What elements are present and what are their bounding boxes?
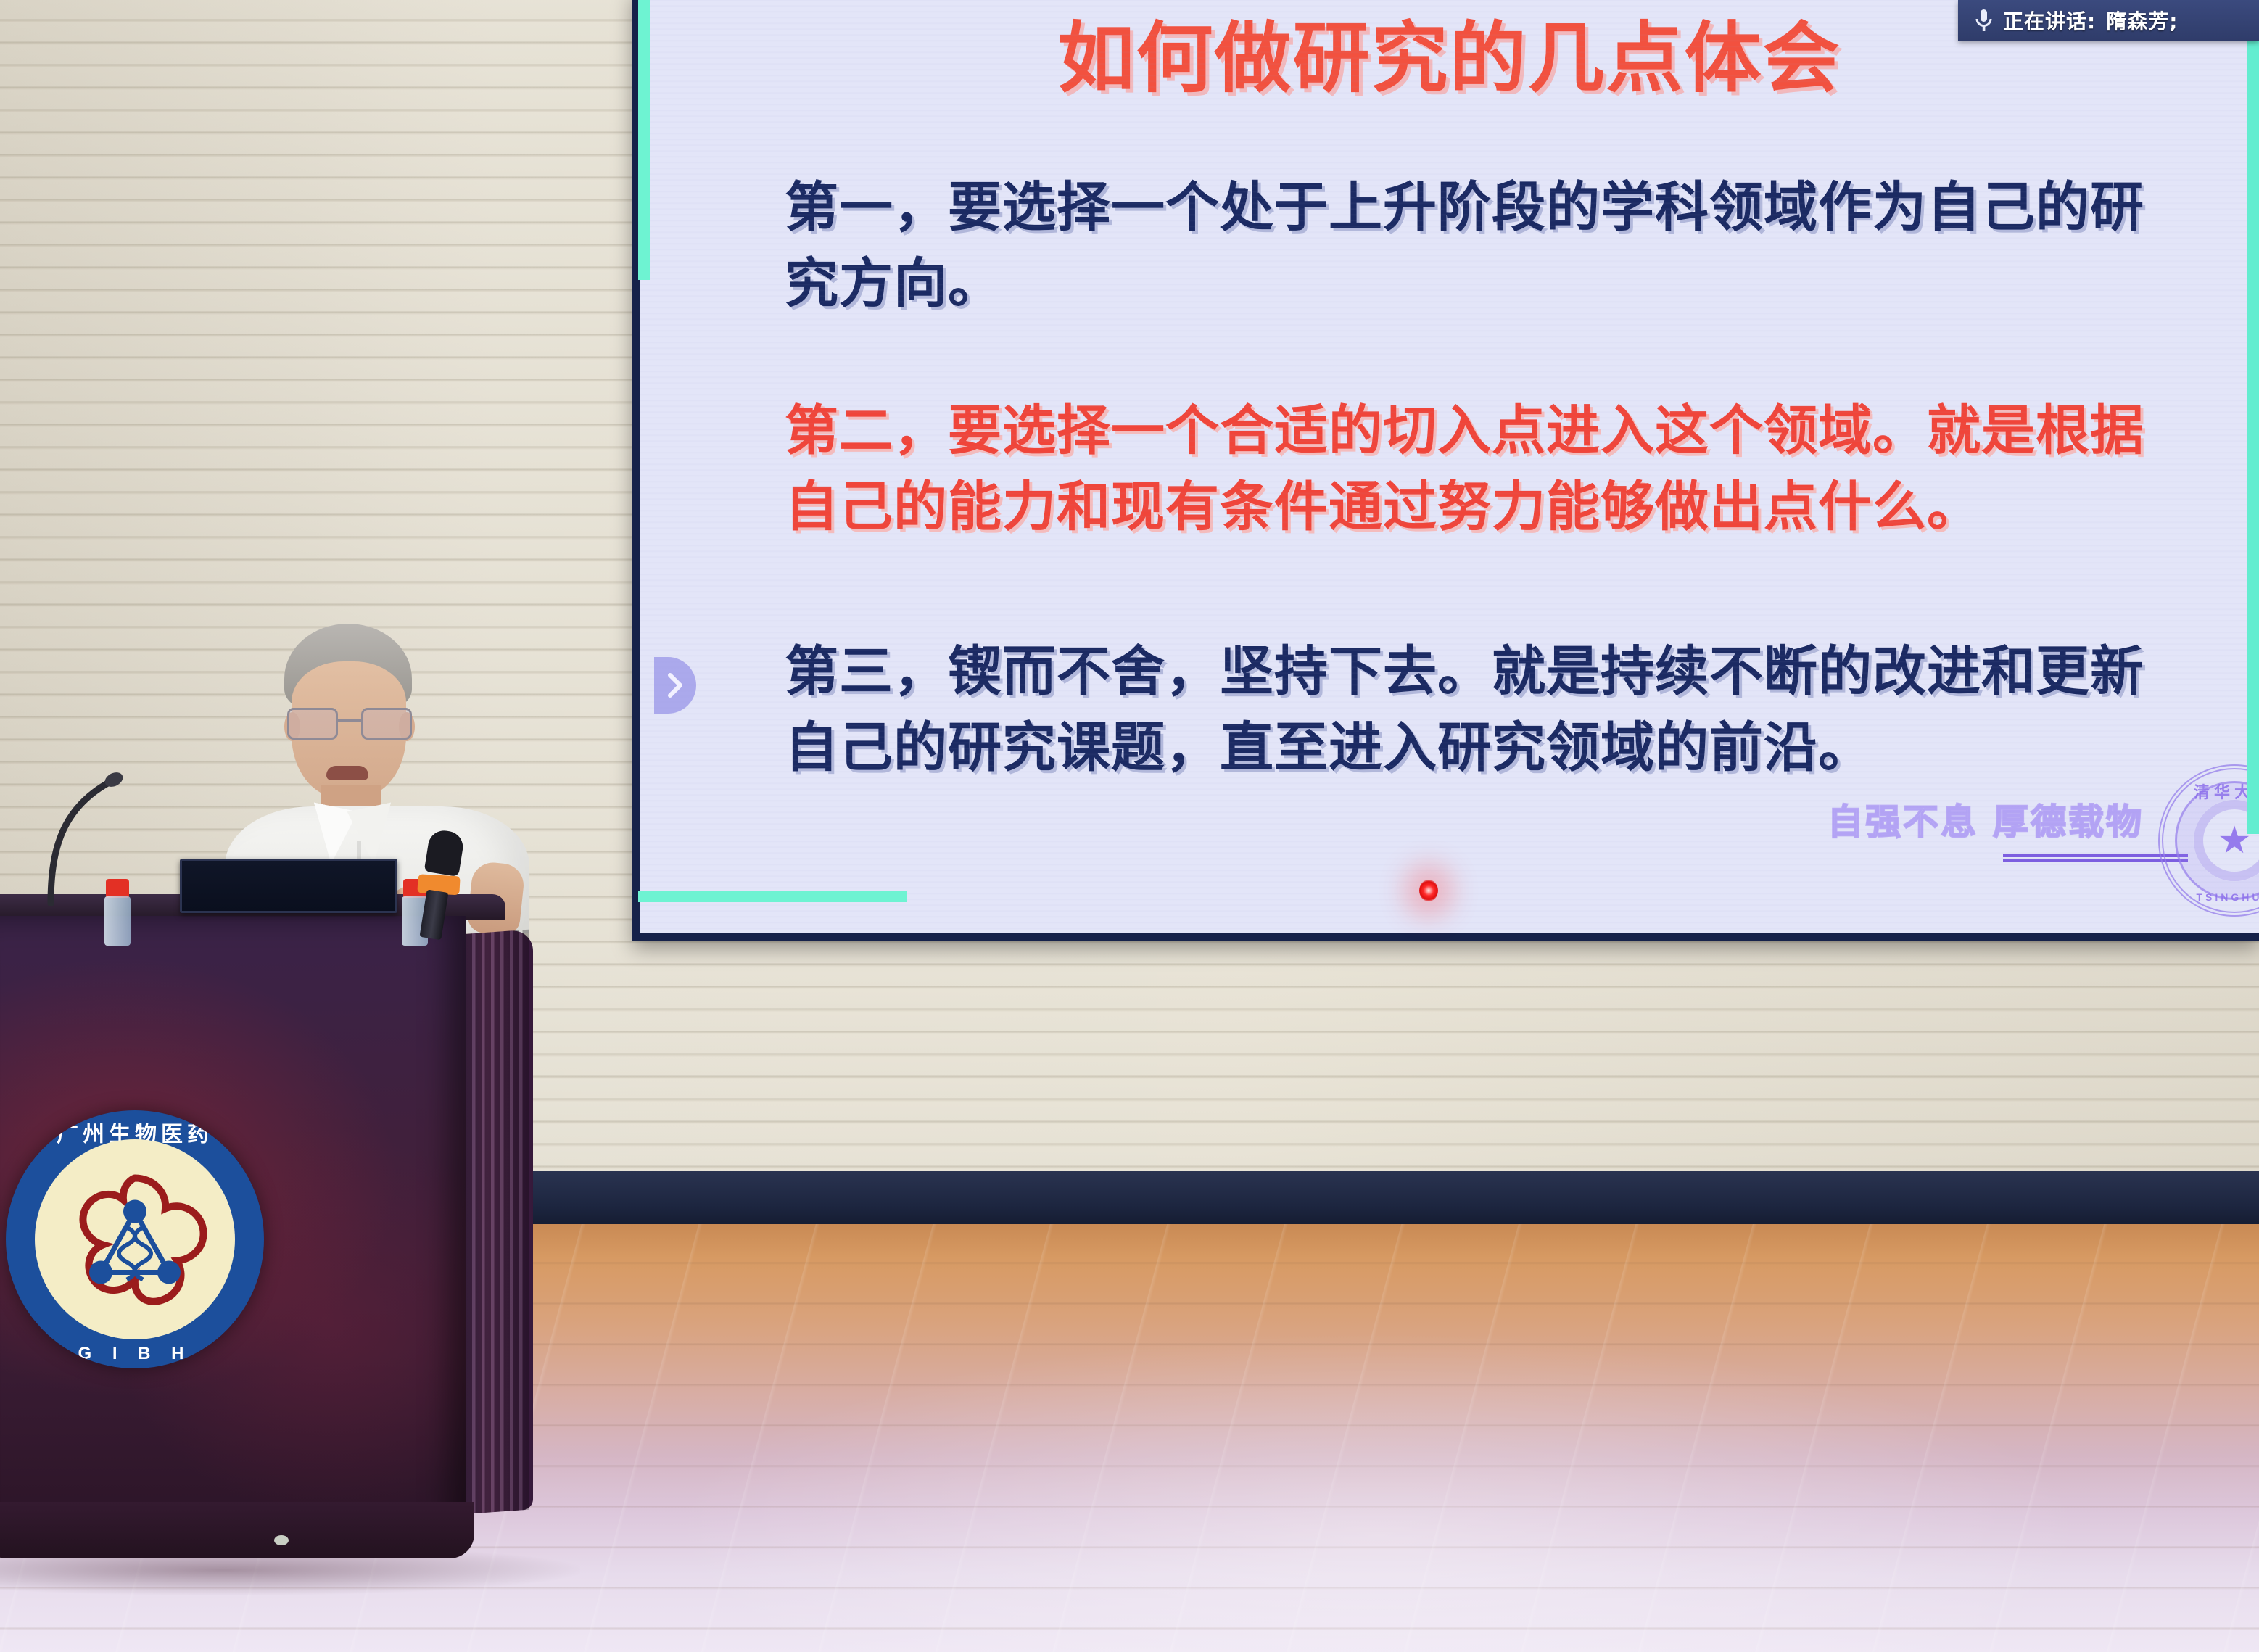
tsinghua-seal-logo: 清华大学 ★ TSINGHUA xyxy=(2158,764,2259,917)
active-speaker-name: 隋森芳; xyxy=(2106,6,2178,35)
slide-paragraph-3: 第三，锲而不舍，坚持下去。就是持续不断的改进和更新自己的研究课题，直至进入研究领… xyxy=(785,634,2163,786)
podium-side-panel xyxy=(457,929,533,1514)
screenshare-highlight-left xyxy=(638,0,650,280)
speaking-label: 正在讲话: xyxy=(2003,6,2096,35)
person-eyeglasses xyxy=(286,708,413,741)
gibh-flower-dna-emblem xyxy=(51,1160,218,1330)
gibh-institute-logo: 广州生物医药 G I B H xyxy=(6,1110,264,1368)
screenshare-highlight-right xyxy=(2247,29,2259,834)
screenshare-highlight-bottom xyxy=(638,891,907,902)
mic-head xyxy=(424,828,466,877)
projection-screen-frame: 如何做研究的几点体会 第一，要选择一个处于上升阶段的学科领域作为自己的研究方向。… xyxy=(632,0,2259,941)
glasses-lens-left xyxy=(287,708,338,740)
water-bottle-left xyxy=(103,879,132,946)
seal-chinese-text: 清华大学 xyxy=(2163,780,2259,803)
seal-english-text: TSINGHUA xyxy=(2163,891,2259,903)
glasses-lens-right xyxy=(361,708,412,740)
active-speaker-bar: 正在讲话: 隋森芳; xyxy=(1958,0,2259,41)
podium-front-panel: 广州生物医药 G I B H xyxy=(0,916,466,1554)
gibh-logo-acronym: G I B H xyxy=(6,1344,264,1364)
podium-base xyxy=(0,1502,474,1558)
laser-pointer-dot xyxy=(1419,880,1438,901)
podium-confidence-monitor xyxy=(180,859,397,913)
presentation-slide: 如何做研究的几点体会 第一，要选择一个处于上升阶段的学科领域作为自己的研究方向。… xyxy=(640,0,2259,933)
slide-paragraph-1: 第一，要选择一个处于上升阶段的学科领域作为自己的研究方向。 xyxy=(785,170,2163,322)
mic-shaft xyxy=(419,889,448,940)
lecture-hall-photo: 如何做研究的几点体会 第一，要选择一个处于上升阶段的学科领域作为自己的研究方向。… xyxy=(0,0,2259,1652)
bottle-cap xyxy=(106,879,129,898)
person-mouth xyxy=(326,766,368,780)
podium-fastener xyxy=(274,1535,289,1545)
podium-fluting xyxy=(463,930,529,1514)
microphone-icon xyxy=(1974,8,1993,33)
lectern-podium: 广州生物医药 G I B H xyxy=(0,894,538,1583)
projection-screen-surface: 如何做研究的几点体会 第一，要选择一个处于上升阶段的学科领域作为自己的研究方向。… xyxy=(640,0,2259,933)
chevron-right-icon xyxy=(664,671,686,700)
slide-paragraph-2: 第二，要选择一个合适的切入点进入这个领域。就是根据自己的能力和现有条件通过努力能… xyxy=(785,393,2163,545)
glasses-bridge xyxy=(338,719,361,722)
watermark-motto: 自强不息 厚德载物 xyxy=(1828,793,2176,845)
bottle-body xyxy=(104,896,131,946)
